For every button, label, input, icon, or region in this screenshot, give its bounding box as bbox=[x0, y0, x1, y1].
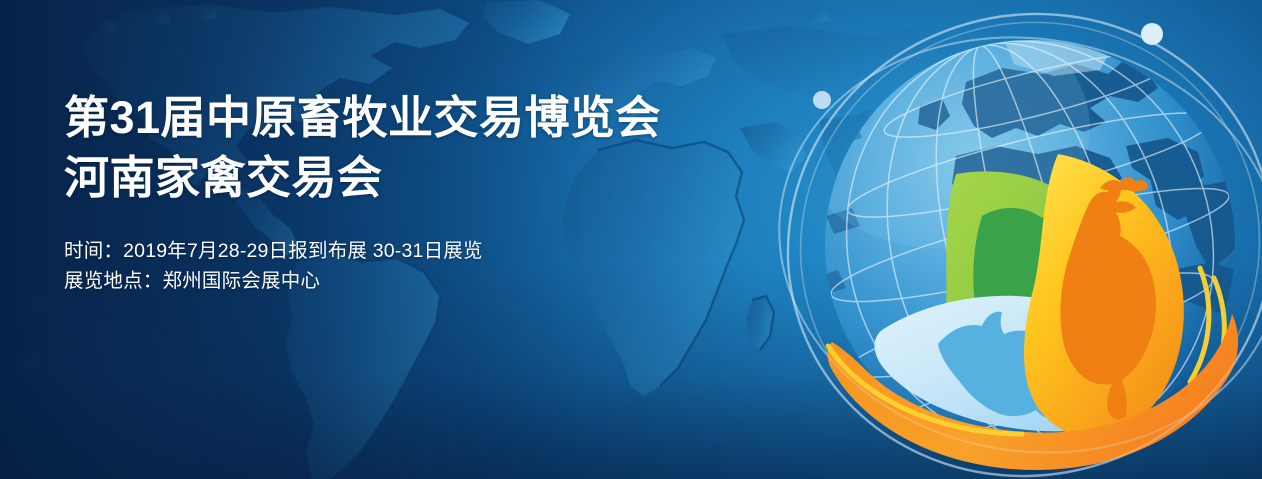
event-venue-line: 展览地点：郑州国际会展中心 bbox=[64, 266, 764, 296]
event-title-line-2: 河南家禽交易会 bbox=[64, 148, 764, 208]
event-title-line-1: 第31届中原畜牧业交易博览会 bbox=[64, 88, 764, 148]
event-banner: 第31届中原畜牧业交易博览会 河南家禽交易会 时间：2019年7月28-29日报… bbox=[0, 0, 1262, 479]
banner-text-block: 第31届中原畜牧业交易博览会 河南家禽交易会 时间：2019年7月28-29日报… bbox=[64, 88, 764, 296]
globe-livestock-logo bbox=[770, 0, 1262, 479]
event-date-line: 时间：2019年7月28-29日报到布展 30-31日展览 bbox=[64, 236, 764, 266]
orbit-dot-right bbox=[1141, 23, 1163, 45]
orbit-dot-left bbox=[813, 91, 831, 109]
event-info-block: 时间：2019年7月28-29日报到布展 30-31日展览 展览地点：郑州国际会… bbox=[64, 236, 764, 296]
logo-svg bbox=[770, 0, 1262, 479]
